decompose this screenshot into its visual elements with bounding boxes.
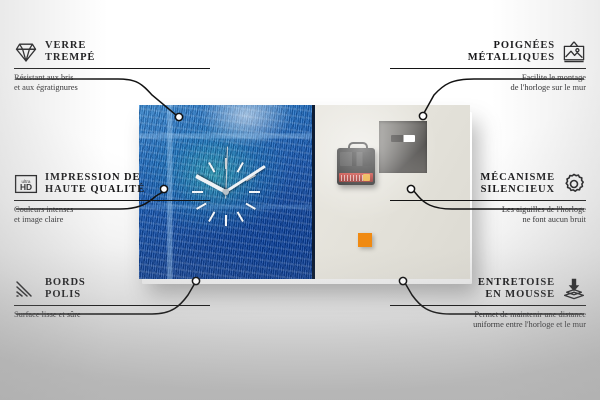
callout-header: BORDS POLIS [14, 277, 210, 302]
mechanism-hook [348, 142, 368, 153]
callout-header: ultra HD IMPRESSION DE HAUTE QUALITÉ [14, 172, 210, 197]
callout-title: POIGNÉES MÉTALLIQUES [468, 40, 555, 65]
callout-impression-haute-qualite: ultra HD IMPRESSION DE HAUTE QUALITÉ Cou… [14, 172, 210, 226]
callout-rule [390, 68, 586, 69]
gear-icon [562, 172, 586, 196]
callout-description: Les aiguilles de l'horloge ne font aucun… [390, 205, 586, 226]
callout-rule [390, 200, 586, 201]
battery [339, 173, 373, 182]
battery-label [341, 175, 363, 181]
callout-poignees-metalliques: POIGNÉES MÉTALLIQUES Facilite le montage… [390, 40, 586, 94]
callout-description: Couleurs intenses et image claire [14, 205, 210, 226]
hanging-frame-icon [562, 40, 586, 64]
foam-spacer [358, 233, 372, 247]
diamond-icon [14, 40, 38, 64]
clock-hub [223, 189, 229, 195]
callout-title: MÉCANISME SILENCIEUX [480, 172, 555, 197]
callout-mecanisme-silencieux: MÉCANISME SILENCIEUX Les aiguilles de l'… [390, 172, 586, 226]
callout-description: Permet de maintenir une distance uniform… [390, 310, 586, 331]
svg-text:HD: HD [20, 183, 32, 193]
callout-title: ENTRETOISE EN MOUSSE [478, 277, 555, 302]
callout-header: POIGNÉES MÉTALLIQUES [390, 40, 586, 65]
callout-rule [14, 68, 210, 69]
callout-description: Facilite le montage de l'horloge sur le … [390, 73, 586, 94]
callout-entretoise-en-mousse: ENTRETOISE EN MOUSSE Permet de maintenir… [390, 277, 586, 331]
callout-title: VERRE TREMPÉ [45, 40, 95, 65]
callout-description: Résistant aux bris et aux égratignures [14, 73, 210, 94]
callout-header: MÉCANISME SILENCIEUX [390, 172, 586, 197]
hanger-slot [391, 135, 415, 142]
callout-title: IMPRESSION DE HAUTE QUALITÉ [45, 172, 145, 197]
foam-spacer-icon [562, 277, 586, 301]
ultra-hd-icon: ultra HD [14, 172, 38, 196]
callout-description: Surface lisse et sûre [14, 310, 210, 320]
callout-bords-polis: BORDS POLIS Surface lisse et sûre [14, 277, 210, 320]
metal-hanger-plate [379, 121, 427, 173]
callout-rule [390, 305, 586, 306]
callout-header: VERRE TREMPÉ [14, 40, 210, 65]
callout-rule [14, 200, 210, 201]
callout-rule [14, 305, 210, 306]
clock-mechanism [337, 148, 375, 185]
infographic-canvas: VERRE TREMPÉ Résistant aux bris et aux é… [0, 0, 600, 400]
callout-header: ENTRETOISE EN MOUSSE [390, 277, 586, 302]
battery-plus-terminal [363, 174, 370, 181]
mechanism-detail [340, 152, 372, 166]
polished-edge-icon [14, 277, 38, 301]
callout-verre-trempe: VERRE TREMPÉ Résistant aux bris et aux é… [14, 40, 210, 94]
callout-title: BORDS POLIS [45, 277, 86, 302]
